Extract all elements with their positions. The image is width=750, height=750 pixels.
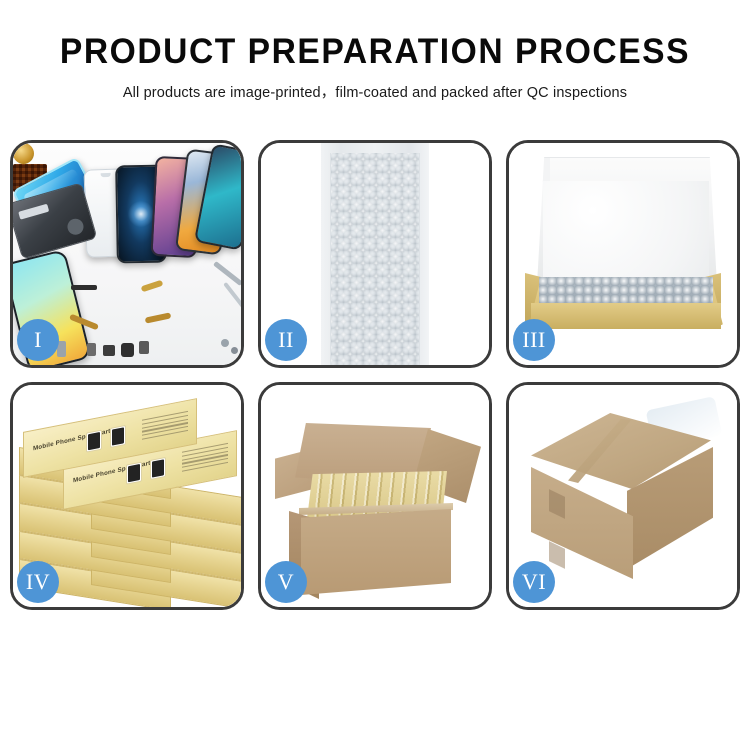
page-subtitle: All products are image-printed，film-coat…	[0, 81, 750, 102]
process-step-grid: I II III	[10, 140, 742, 610]
box-spec-lines	[142, 411, 188, 443]
flex-cable-icon	[71, 285, 97, 290]
tweezers-icon	[223, 282, 241, 308]
foam-lining-icon	[543, 181, 709, 279]
box-screen-thumbnail	[86, 430, 102, 453]
page-title: PRODUCT PREPARATION PROCESS	[15, 34, 735, 71]
flex-cable-icon	[141, 280, 164, 293]
small-component-icon	[139, 341, 149, 354]
small-component-icon	[103, 345, 115, 356]
box-screen-thumbnail	[110, 425, 126, 448]
step-badge-2: II	[265, 319, 307, 361]
retail-box-brand-text: Mobile Phone Spare Parts	[33, 427, 114, 453]
process-step-panel-3: III	[506, 140, 740, 368]
box-front-panel-icon	[531, 303, 721, 329]
carton-front-panel-icon	[301, 509, 451, 595]
screw-icon	[221, 339, 229, 347]
box-screen-thumbnail	[150, 457, 166, 480]
step-badge-4: IV	[17, 561, 59, 603]
small-component-icon	[121, 343, 134, 357]
box-spec-lines	[182, 443, 228, 475]
header: PRODUCT PREPARATION PROCESS All products…	[0, 0, 750, 102]
step-badge-1: I	[17, 319, 59, 361]
process-step-panel-1: I	[10, 140, 244, 368]
box-screen-thumbnail	[126, 462, 142, 485]
flex-cable-icon	[145, 312, 172, 323]
process-step-panel-5: V	[258, 382, 492, 610]
screw-icon	[231, 347, 238, 354]
step-badge-6: VI	[513, 561, 555, 603]
process-step-panel-6: VI	[506, 382, 740, 610]
process-step-panel-4: Mobile Phone Spare Parts Mobile Phone Sp…	[10, 382, 244, 610]
step-badge-5: V	[265, 561, 307, 603]
step-badge-3: III	[513, 319, 555, 361]
bubble-wrap-icon	[330, 153, 420, 365]
small-component-icon	[87, 343, 96, 356]
bubble-wrapped-contents-icon	[539, 277, 713, 303]
speaker-coil-icon	[13, 143, 34, 164]
process-step-panel-2: II	[258, 140, 492, 368]
